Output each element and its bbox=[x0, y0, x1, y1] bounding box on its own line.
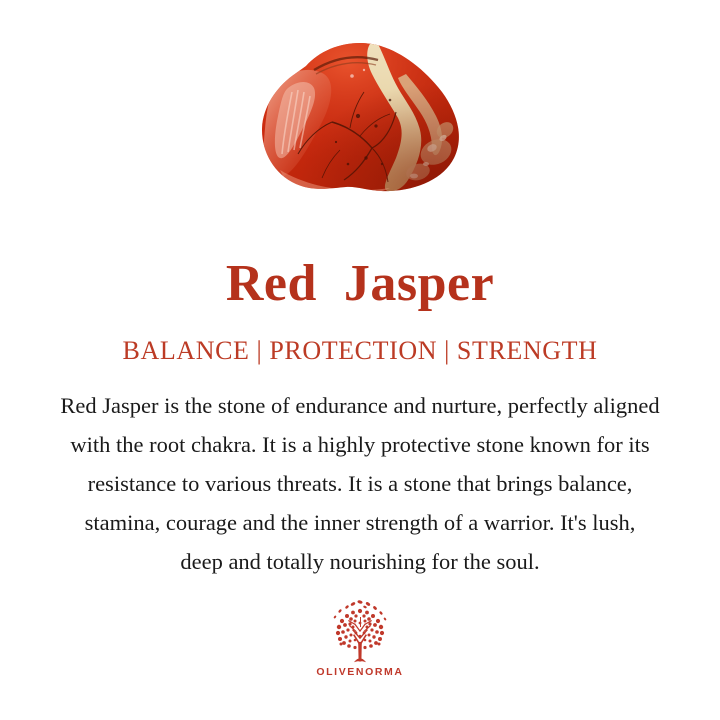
description-line: with the root chakra. It is a highly pro… bbox=[10, 425, 710, 464]
keyword-separator: | bbox=[444, 338, 450, 364]
keyword-strength: STRENGTH bbox=[457, 338, 598, 364]
tree-of-life-icon bbox=[323, 599, 397, 665]
description-line: Red Jasper is the stone of endurance and… bbox=[10, 386, 710, 425]
keyword-balance: BALANCE bbox=[123, 338, 250, 364]
red-jasper-stone-icon bbox=[240, 30, 480, 210]
stone-image-container bbox=[0, 0, 720, 240]
brand-logo[interactable]: OLIVENORMA bbox=[316, 599, 403, 678]
crystal-info-card: Red Jasper BALANCE | PROTECTION | STRENG… bbox=[0, 0, 720, 720]
description-paragraph: Red Jasper is the stone of endurance and… bbox=[10, 386, 710, 581]
description-line: stamina, courage and the inner strength … bbox=[10, 503, 710, 542]
page-title: Red Jasper bbox=[226, 258, 494, 310]
description-line: resistance to various threats. It is a s… bbox=[10, 464, 710, 503]
keyword-subtitle: BALANCE | PROTECTION | STRENGTH bbox=[123, 338, 598, 364]
keyword-separator: | bbox=[257, 338, 263, 364]
keyword-protection: PROTECTION bbox=[269, 338, 437, 364]
brand-wordmark: OLIVENORMA bbox=[316, 666, 403, 678]
description-line: deep and totally nourishing for the soul… bbox=[10, 542, 710, 581]
